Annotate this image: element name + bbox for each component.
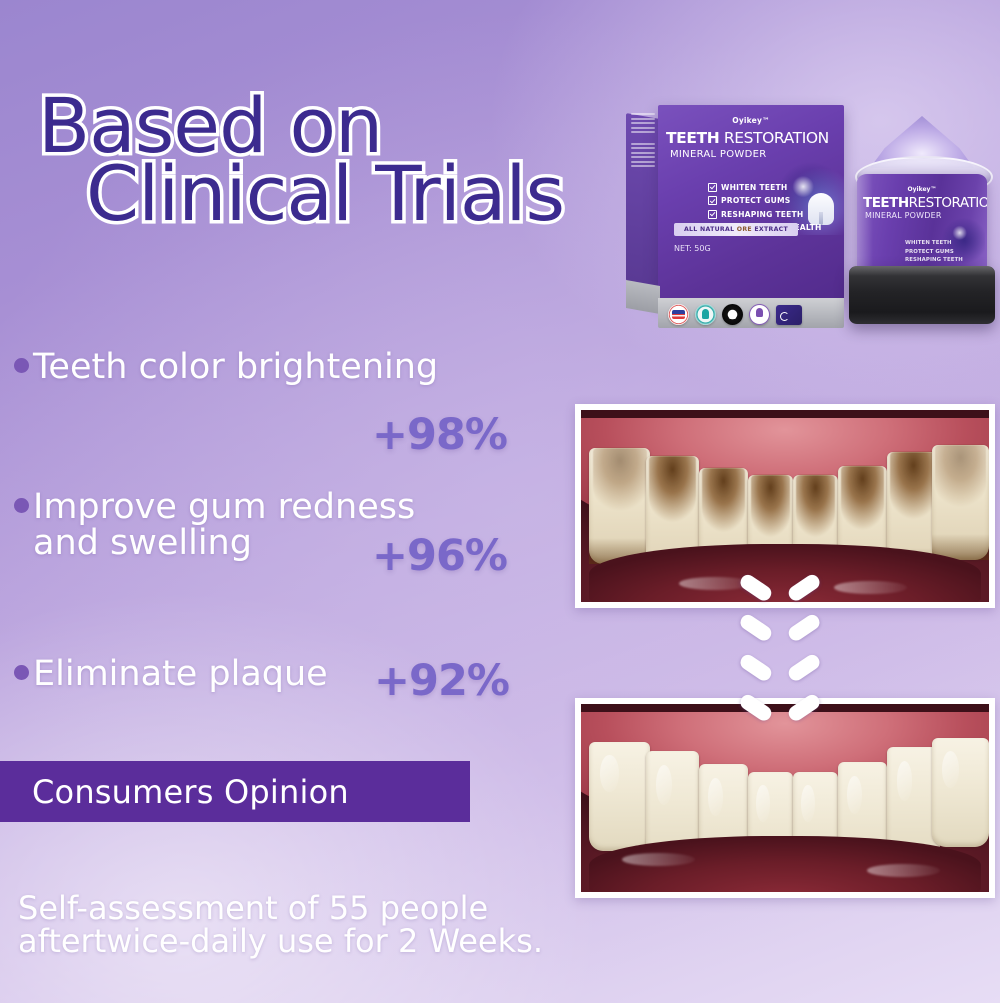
ribbon-highlight: ORE	[737, 226, 752, 233]
black-tooth-seal-icon	[722, 304, 743, 325]
claim-value-1: +98%	[372, 410, 507, 460]
list-item: PROTECT GUMS	[905, 249, 976, 255]
promo-poster: Based on Clinical Trials Teeth color bri…	[0, 0, 1000, 1003]
feature-label: PROTECT GUMS	[721, 196, 790, 205]
product-box-title: TEETH RESTORATION	[666, 129, 838, 147]
tooth	[589, 742, 650, 851]
product-box: Oyikey™ TEETH RESTORATION MINERAL POWDER…	[626, 105, 876, 320]
jar-cap	[849, 266, 995, 324]
natural-extract-ribbon: ALL NATURAL ORE EXTRACT	[674, 223, 798, 236]
claim-label-3: Eliminate plaque	[33, 656, 328, 692]
chevron-down-icon	[746, 572, 814, 606]
claim-value-2: +96%	[372, 531, 507, 581]
list-item: WHITEN TEETH	[905, 240, 976, 246]
list-item: RESHAPING TEETH	[708, 210, 822, 219]
teal-tooth-seal-icon	[695, 304, 716, 325]
consumers-opinion-label: Consumers Opinion	[32, 773, 349, 811]
chevron-down-icon	[746, 652, 814, 686]
product-box-side-text	[631, 113, 655, 170]
jar-title-bold: TEETH	[863, 195, 909, 211]
claim-label-2: Improve gum redness and swelling	[33, 489, 415, 562]
check-icon	[708, 196, 717, 205]
product-box-brand: Oyikey™	[658, 116, 844, 125]
tooth	[932, 445, 989, 560]
page-title: Based on Clinical Trials	[38, 92, 678, 229]
product-box-front: Oyikey™ TEETH RESTORATION MINERAL POWDER…	[658, 105, 844, 301]
saliva-highlight	[867, 864, 940, 877]
jar-title: TEETHRESTORATION	[863, 195, 987, 211]
list-item: RESHAPING TEETH	[905, 257, 976, 263]
jar-title-light: RESTORATION	[909, 195, 987, 211]
jar-label: Oyikey™ TEETHRESTORATION MINERAL POWDER …	[857, 174, 987, 274]
claim-label-1: Teeth color brightening	[33, 349, 438, 385]
bullet-dot-icon	[14, 498, 29, 513]
claim-row-2: Improve gum redness and swelling	[14, 489, 415, 562]
claim-value-3: +92%	[374, 656, 509, 706]
check-icon	[708, 210, 717, 219]
chevron-down-icon	[746, 692, 814, 726]
tooth	[932, 738, 989, 847]
claim-row-1: Teeth color brightening	[14, 349, 438, 385]
list-item: PROTECT GUMS	[708, 196, 822, 205]
purple-tooth-seal-icon	[749, 304, 770, 325]
tooth	[589, 448, 650, 563]
us-flag-seal-icon	[668, 304, 689, 325]
bullet-dot-icon	[14, 358, 29, 373]
product-box-title-bold: TEETH	[666, 129, 719, 147]
consumers-opinion-banner: Consumers Opinion	[0, 761, 470, 822]
product-box-title-light: RESTORATION	[719, 129, 829, 147]
certification-seals	[668, 304, 802, 325]
headline-line-2: Clinical Trials	[38, 160, 678, 228]
ribbon-prefix: ALL NATURAL	[684, 226, 737, 233]
product-jar: Oyikey™ TEETHRESTORATION MINERAL POWDER …	[847, 116, 997, 328]
list-item: WHITEN TEETH	[708, 183, 822, 192]
transformation-arrows	[746, 572, 846, 742]
feature-label: RESHAPING TEETH	[721, 210, 803, 219]
claim-row-3: Eliminate plaque	[14, 656, 328, 692]
footnote-text: Self-assessment of 55 people aftertwice-…	[18, 892, 638, 959]
check-icon	[708, 183, 717, 192]
bullet-dot-icon	[14, 665, 29, 680]
navy-certification-seal-icon	[776, 305, 802, 325]
jar-subtitle: MINERAL POWDER	[865, 211, 942, 220]
net-weight-label: NET: 50G	[674, 244, 711, 253]
product-box-subtitle: MINERAL POWDER	[670, 149, 766, 160]
jar-brand: Oyikey™	[857, 186, 987, 193]
saliva-highlight	[622, 853, 695, 866]
product-box-base-side	[626, 280, 660, 314]
chevron-down-icon	[746, 612, 814, 646]
ribbon-text: ALL NATURAL ORE EXTRACT	[684, 226, 788, 233]
feature-label: WHITEN TEETH	[721, 183, 787, 192]
ribbon-suffix: EXTRACT	[752, 226, 788, 233]
